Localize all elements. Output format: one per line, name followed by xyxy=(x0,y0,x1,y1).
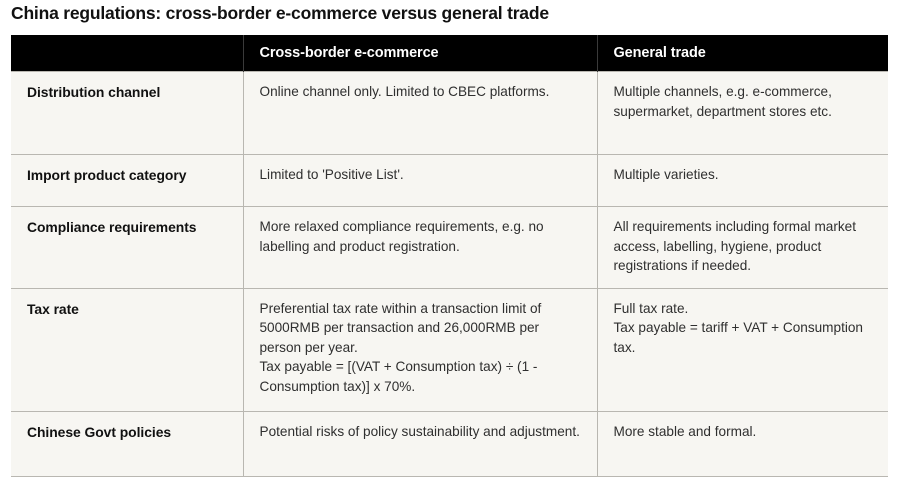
table-header: Cross-border e-commerce General trade xyxy=(11,35,888,72)
comparison-table: Cross-border e-commerce General trade Di… xyxy=(11,35,888,477)
row-general-trade-value: All requirements including formal market… xyxy=(597,207,888,289)
row-general-trade-value: Full tax rate. Tax payable = tariff + VA… xyxy=(597,288,888,411)
table-row: Chinese Govt policies Potential risks of… xyxy=(11,411,888,476)
table-row: Compliance requirements More relaxed com… xyxy=(11,207,888,289)
row-general-trade-value: More stable and formal. xyxy=(597,411,888,476)
table-row: Import product category Limited to 'Posi… xyxy=(11,155,888,207)
column-header-attribute xyxy=(11,35,243,72)
row-attribute-label: Import product category xyxy=(11,155,243,207)
table-body: Distribution channel Online channel only… xyxy=(11,72,888,477)
row-attribute-label: Compliance requirements xyxy=(11,207,243,289)
row-cbec-value: Potential risks of policy sustainability… xyxy=(243,411,597,476)
row-general-trade-value: Multiple channels, e.g. e-commerce, supe… xyxy=(597,72,888,155)
row-cbec-value: Preferential tax rate within a transacti… xyxy=(243,288,597,411)
row-cbec-value: Limited to 'Positive List'. xyxy=(243,155,597,207)
page-title: China regulations: cross-border e-commer… xyxy=(11,3,549,24)
column-header-cbec: Cross-border e-commerce xyxy=(243,35,597,72)
page-root: China regulations: cross-border e-commer… xyxy=(0,0,900,456)
comparison-table-container: Cross-border e-commerce General trade Di… xyxy=(11,35,888,477)
table-row: Distribution channel Online channel only… xyxy=(11,72,888,155)
row-cbec-value: Online channel only. Limited to CBEC pla… xyxy=(243,72,597,155)
table-row: Tax rate Preferential tax rate within a … xyxy=(11,288,888,411)
row-cbec-value: More relaxed compliance requirements, e.… xyxy=(243,207,597,289)
row-general-trade-value: Multiple varieties. xyxy=(597,155,888,207)
row-attribute-label: Chinese Govt policies xyxy=(11,411,243,476)
row-attribute-label: Tax rate xyxy=(11,288,243,411)
column-header-general-trade: General trade xyxy=(597,35,888,72)
table-header-row: Cross-border e-commerce General trade xyxy=(11,35,888,72)
row-attribute-label: Distribution channel xyxy=(11,72,243,155)
